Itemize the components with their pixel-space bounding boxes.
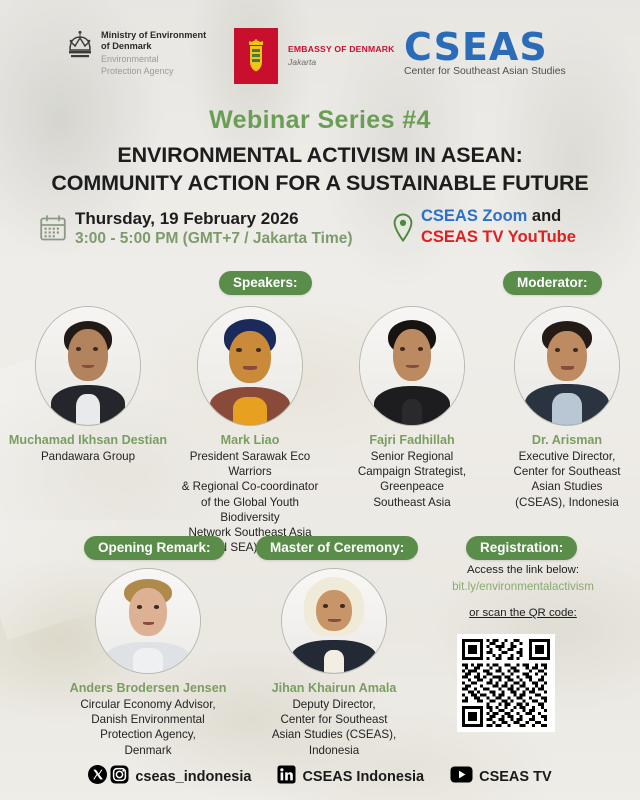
danish-flag-block [234,28,278,84]
registration-scan-text: or scan the QR code: [428,607,618,619]
embassy-title: EMBASSY OF DENMARK [288,44,395,55]
danish-crown-icon [66,30,94,60]
portrait-illustration [36,307,140,425]
moderator-card: Dr. Arisman Executive Director, Center f… [494,306,640,510]
social-icon-group [277,765,296,789]
ministry-line1: Ministry of Environment [101,30,206,41]
social-label-instagram: cseas_indonesia [135,769,251,785]
and-label: and [527,207,561,225]
page-title: ENVIRONMENTAL ACTIVISM IN ASEAN: COMMUNI… [0,142,640,198]
cseas-logo: CSEAS Center for Southeast Asian Studies [404,29,566,77]
opening-remark-role: Circular Economy Advisor, Danish Environ… [58,697,238,757]
embassy-city: Jakarta [288,57,395,68]
registration-access-text: Access the link below: [428,562,618,579]
speaker-role: Pandawara Group [8,449,168,464]
speaker-card-1: Muchamad Ikhsan Destian Pandawara Group [8,306,168,464]
social-icon-group [88,765,129,789]
event-date: Thursday, 19 February 2026 [75,208,353,229]
avatar [359,306,465,426]
portrait-illustration [360,307,464,425]
speaker-name: Muchamad Ikhsan Destian [8,433,168,448]
avatar [281,568,387,674]
avatar [197,306,303,426]
social-item-linkedin[interactable]: CSEAS Indonesia [277,765,424,789]
event-time: 3:00 - 5:00 PM (GMT+7 / Jakarta Time) [75,229,353,248]
ministry-line2: of Denmark [101,41,206,52]
danish-coat-of-arms-icon [246,39,266,73]
instagram-icon[interactable] [110,765,129,789]
event-details-bar: Thursday, 19 February 2026 3:00 - 5:00 P… [0,206,640,254]
moderator-role: Executive Director, Center for Southeast… [494,449,640,509]
qr-code-icon[interactable] [457,634,555,732]
moderator-name: Dr. Arisman [494,433,640,448]
portrait-illustration [96,569,200,673]
speakers-label: Speakers: [219,271,312,295]
speaker-name: Fajri Fadhillah [332,433,492,448]
master-of-ceremony-label: Master of Ceremony: [256,536,418,560]
cseas-tagline: Center for Southeast Asian Studies [404,66,566,77]
opening-remark-name: Anders Brodersen Jensen [58,681,238,696]
calendar-icon [40,215,66,241]
title-line-2: COMMUNITY ACTION FOR A SUSTAINABLE FUTUR… [0,170,640,198]
portrait-illustration [282,569,386,673]
embassy-of-denmark-logo: EMBASSY OF DENMARK Jakarta [234,28,395,84]
master-of-ceremony-card: Jihan Khairun Amala Deputy Director, Cen… [244,568,424,758]
logo-bar: Ministry of Environment of Denmark Envir… [0,28,640,84]
avatar [95,568,201,674]
social-label-linkedin: CSEAS Indonesia [302,769,424,785]
master-of-ceremony-name: Jihan Khairun Amala [244,681,424,696]
social-icon-group [450,766,473,788]
youtube-icon[interactable] [450,766,473,788]
ministry-line3: Environmental [101,54,206,65]
master-of-ceremony-role: Deputy Director, Center for Southeast As… [244,697,424,757]
x-twitter-icon[interactable] [88,765,107,789]
social-footer: cseas_indonesia CSEAS Indonesia [0,762,640,792]
location-pin-icon [392,213,414,241]
platform-line-2: CSEAS TV YouTube [421,227,576,248]
platform-line-1: CSEAS Zoom and [421,206,576,227]
ministry-of-environment-logo: Ministry of Environment of Denmark Envir… [66,30,206,77]
opening-remark-card: Anders Brodersen Jensen Circular Economy… [58,568,238,758]
avatar [514,306,620,426]
speaker-card-3: Fajri Fadhillah Senior Regional Campaign… [332,306,492,510]
linkedin-icon[interactable] [277,765,296,789]
cseas-wordmark: CSEAS [404,29,566,65]
social-label-youtube: CSEAS TV [479,769,552,785]
speaker-name: Mark Liao [170,433,330,448]
avatar [35,306,141,426]
registration-block: Access the link below: bit.ly/environmen… [428,562,618,619]
portrait-illustration [198,307,302,425]
speaker-card-2: Mark Liao President Sarawak Eco Warriors… [170,306,330,555]
ministry-line4: Protection Agency [101,66,206,77]
opening-remark-label: Opening Remark: [84,536,225,560]
date-time-block: Thursday, 19 February 2026 3:00 - 5:00 P… [40,208,353,249]
title-line-1: ENVIRONMENTAL ACTIVISM IN ASEAN: [0,142,640,170]
moderator-label: Moderator: [503,271,602,295]
registration-label: Registration: [466,536,577,560]
speaker-role: Senior Regional Campaign Strategist, Gre… [332,449,492,509]
webinar-poster: Ministry of Environment of Denmark Envir… [0,0,640,800]
platform-block: CSEAS Zoom and CSEAS TV YouTube [392,206,576,248]
social-item-youtube[interactable]: CSEAS TV [450,766,552,788]
social-item-instagram-x[interactable]: cseas_indonesia [88,765,251,789]
portrait-illustration [515,307,619,425]
zoom-label: CSEAS Zoom [421,207,527,225]
series-label: Webinar Series #4 [0,106,640,135]
registration-link[interactable]: bit.ly/environmentalactivism [428,579,618,596]
